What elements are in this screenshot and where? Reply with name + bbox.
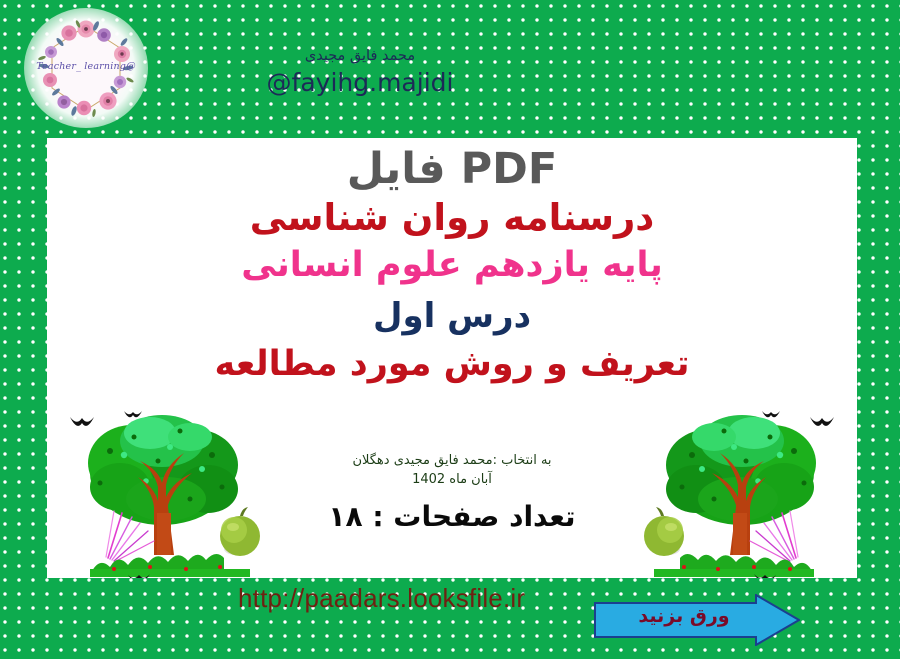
cover-card: PDF فایل درسنامه روان شناسی پایه یازدهم … [47, 138, 857, 578]
pdf-file-title: PDF فایل [47, 144, 857, 194]
site-url-link[interactable]: http://paadars.looksfile.ir [238, 583, 525, 614]
apple-tree-right-icon [627, 403, 842, 578]
main-title: درسنامه روان شناسی [47, 196, 857, 239]
author-handle: @fayihg.majidi [240, 68, 480, 98]
next-page-button[interactable]: ورق بزنید [594, 594, 800, 646]
author-name: محمد فایق مجیدی [240, 46, 480, 66]
slide-canvas: @Teacher_ learning محمد فایق مجیدی @fayi… [0, 0, 900, 659]
topic-line: تعریف و روش مورد مطالعه [47, 344, 857, 384]
author-header: محمد فایق مجیدی @fayihg.majidi [240, 46, 480, 98]
next-page-label: ورق بزنید [614, 605, 754, 627]
pdf-format-label: PDF [461, 144, 558, 194]
logo-label: @Teacher_ learning [24, 61, 148, 72]
apple-tree-left-icon [62, 403, 277, 578]
apple-icon [644, 507, 684, 556]
pdf-prefix-label: فایل [347, 144, 446, 194]
lesson-line: درس اول [47, 296, 857, 336]
apple-icon [220, 507, 260, 556]
grade-line: پایه یازدهم علوم انسانی [47, 245, 857, 285]
teacher-learning-logo: @Teacher_ learning [24, 8, 148, 128]
